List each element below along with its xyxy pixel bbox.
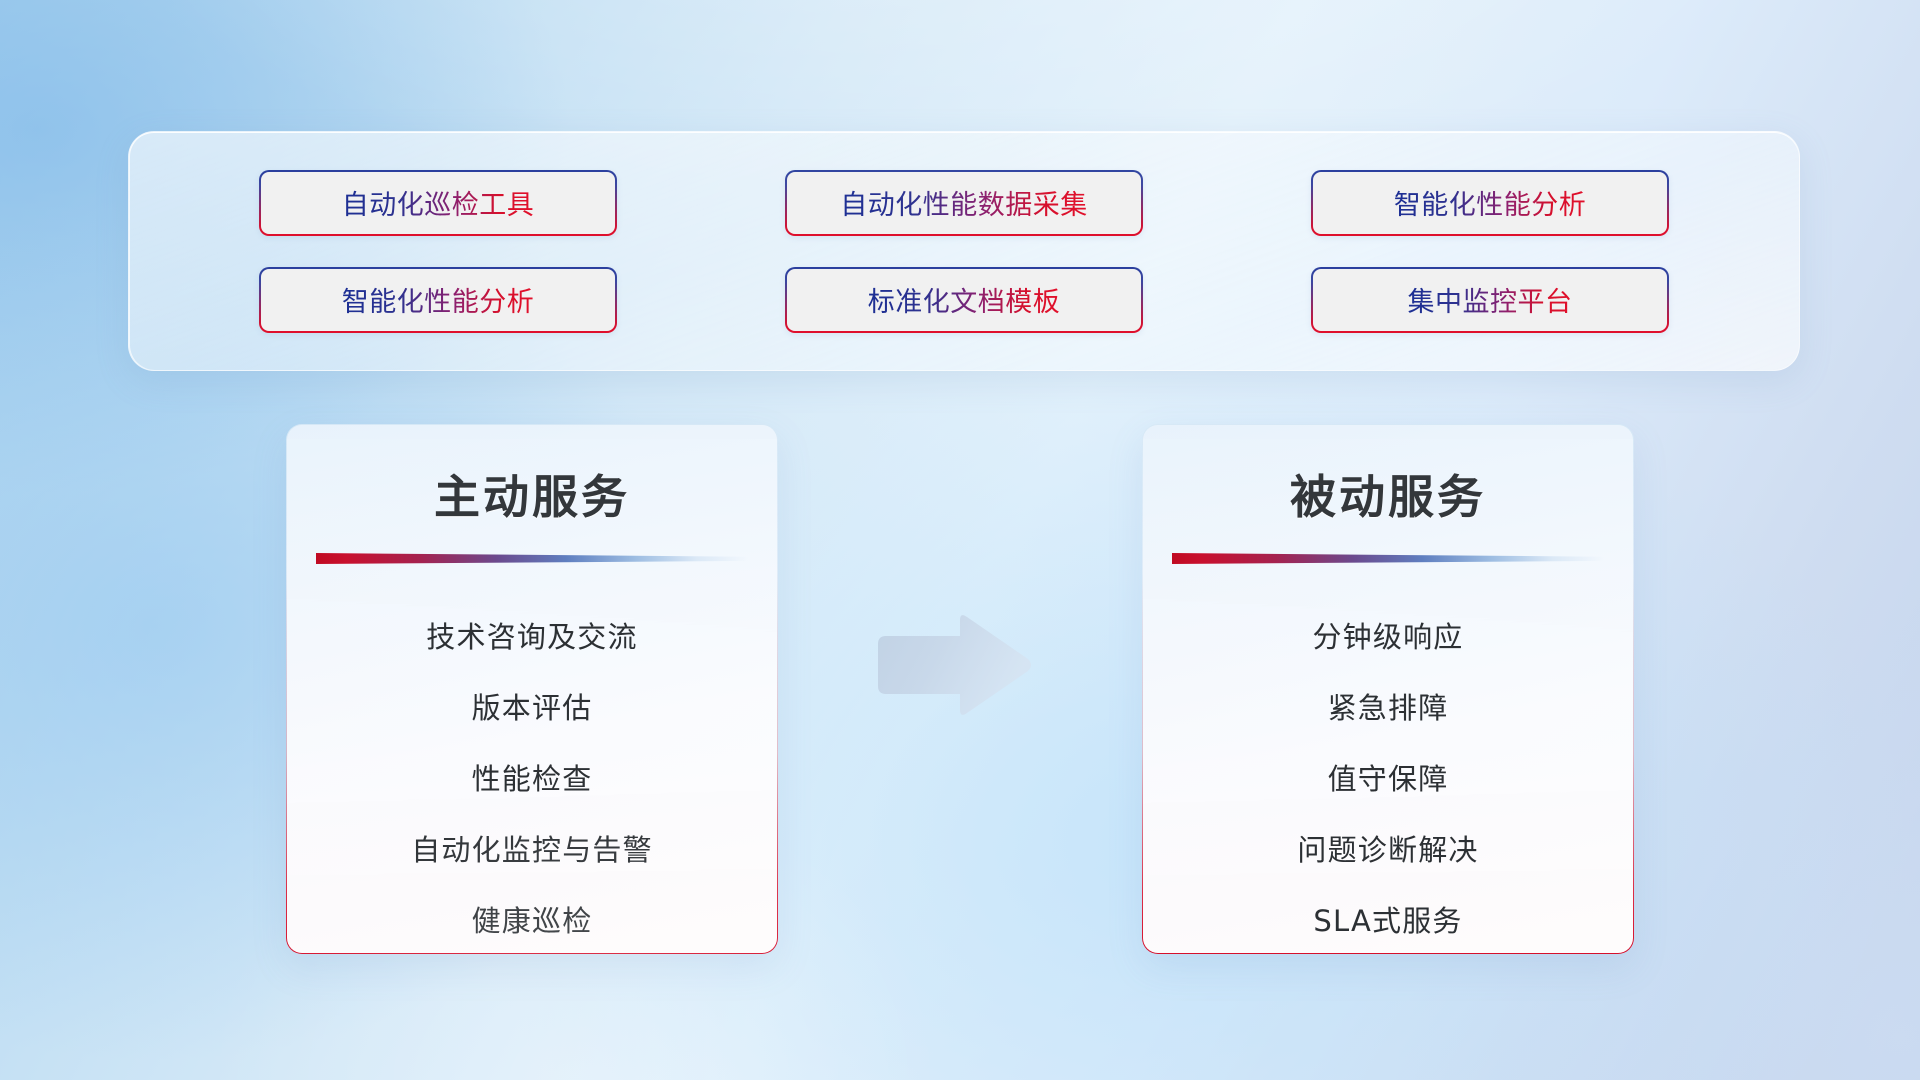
capability-pill[interactable]: 自动化巡检工具 [259,170,617,236]
capability-pill[interactable]: 智能化性能分析 [259,267,617,333]
service-item: 问题诊断解决 [1297,815,1478,886]
card-divider [1172,553,1604,564]
service-item-list: 分钟级响应 紧急排障 值守保障 问题诊断解决 SLA式服务 [1143,602,1633,954]
capability-pill-label: 智能化性能分析 [1394,183,1587,222]
service-item: 分钟级响应 [1312,602,1463,673]
service-item: 技术咨询及交流 [426,602,637,673]
capability-pill-label: 自动化性能数据采集 [840,183,1088,222]
slide-canvas: 自动化巡检工具 自动化性能数据采集 智能化性能分析 智能化性能分析 标准化文档模… [0,0,1920,1080]
capability-pill[interactable]: 自动化性能数据采集 [785,170,1143,236]
capability-pill[interactable]: 集中监控平台 [1311,267,1669,333]
capability-pill-label: 标准化文档模板 [868,280,1061,319]
service-item: 健康巡检 [472,886,593,954]
card-divider-bar [316,553,748,564]
service-item: 紧急排障 [1328,673,1449,744]
service-item: SLA式服务 [1313,886,1462,954]
capability-pill-label: 集中监控平台 [1408,280,1573,319]
capability-pill-label: 智能化性能分析 [342,280,535,319]
capability-pill[interactable]: 智能化性能分析 [1311,170,1669,236]
service-item: 性能检查 [472,744,593,815]
service-card-title: 被动服务 [1143,461,1633,527]
capability-pill-label: 自动化巡检工具 [342,183,535,222]
card-divider [316,553,748,564]
service-item-list: 技术咨询及交流 版本评估 性能检查 自动化监控与告警 健康巡检 [287,602,777,954]
service-item: 值守保障 [1328,744,1449,815]
capability-panel: 自动化巡检工具 自动化性能数据采集 智能化性能分析 智能化性能分析 标准化文档模… [128,131,1800,371]
service-card-proactive: 主动服务 技术咨询及交流 版本评估 性能检查 自动化监控与告警 健康巡检 [286,424,778,954]
capability-pill-grid: 自动化巡检工具 自动化性能数据采集 智能化性能分析 智能化性能分析 标准化文档模… [129,132,1799,370]
card-divider-bar [1172,553,1604,564]
arrow-right-icon [872,610,1034,720]
service-item: 自动化监控与告警 [411,815,653,886]
capability-pill[interactable]: 标准化文档模板 [785,267,1143,333]
service-card-title: 主动服务 [287,461,777,527]
service-card-reactive: 被动服务 分钟级响应 紧急排障 值守保障 问题诊断解决 SLA式服务 [1142,424,1634,954]
service-item: 版本评估 [472,673,593,744]
